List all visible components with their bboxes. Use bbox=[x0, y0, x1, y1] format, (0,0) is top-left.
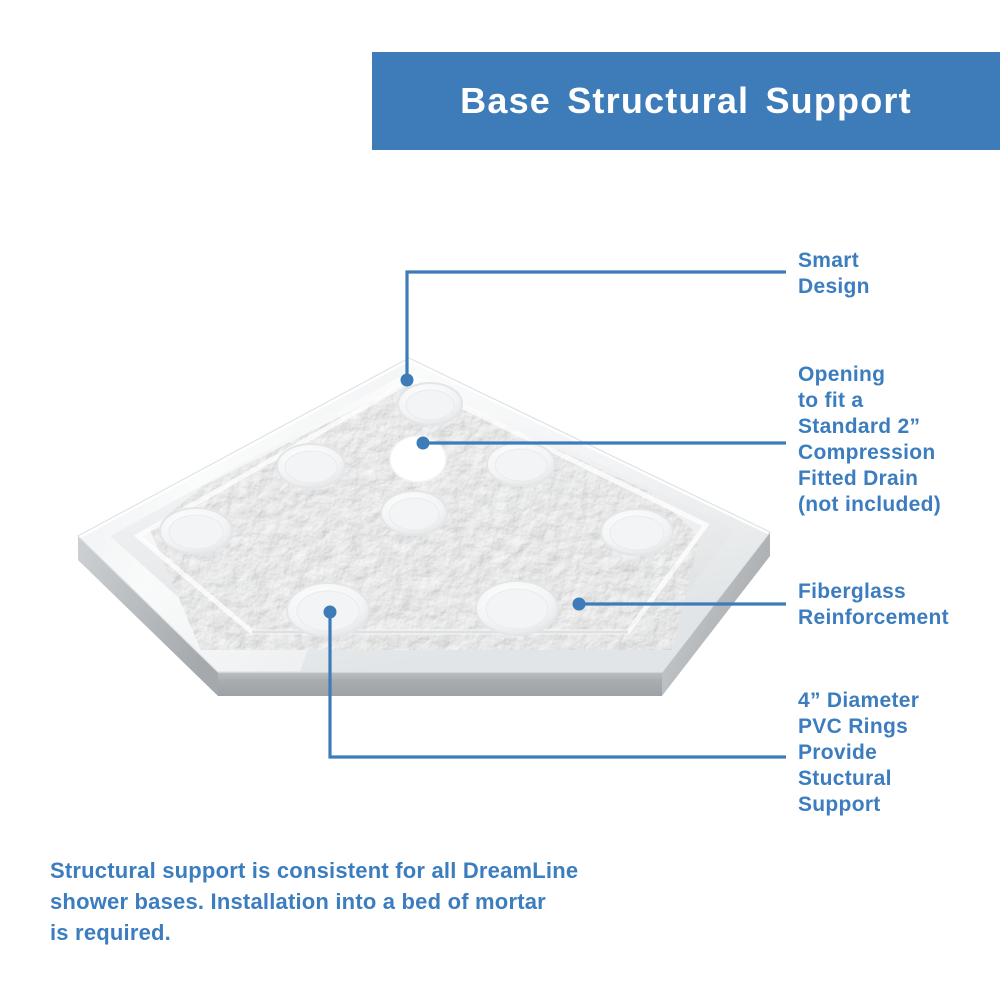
callout-line: Stuctural bbox=[798, 766, 998, 792]
callout-label-pvc-rings: 4” Diameter PVC Rings Provide Stuctural … bbox=[798, 688, 998, 818]
footer-line: shower bases. Installation into a bed of… bbox=[50, 886, 690, 917]
callout-line: Standard 2” bbox=[798, 414, 998, 440]
pvc-ring bbox=[398, 383, 462, 425]
leader-dot-pvc-rings bbox=[324, 606, 337, 619]
pvc-ring bbox=[487, 442, 555, 486]
callout-line: PVC Rings bbox=[798, 714, 998, 740]
leader-dot-smart-design bbox=[401, 374, 414, 387]
page-title: Base Structural Support bbox=[460, 80, 912, 122]
callout-line: Support bbox=[798, 792, 998, 818]
footer-line: Structural support is consistent for all… bbox=[50, 855, 690, 886]
pvc-ring bbox=[277, 444, 345, 488]
callout-line: Provide bbox=[798, 740, 998, 766]
pvc-ring bbox=[160, 508, 232, 554]
callout-line: Fitted Drain bbox=[798, 466, 998, 492]
leader-dot-fiberglass bbox=[573, 598, 586, 611]
footer-note: Structural support is consistent for all… bbox=[50, 855, 690, 948]
header-banner: Base Structural Support bbox=[372, 52, 1000, 150]
callout-line: 4” Diameter bbox=[798, 688, 998, 714]
callout-line: Reinforcement bbox=[798, 605, 998, 631]
footer-line: is required. bbox=[50, 917, 690, 948]
pvc-ring bbox=[601, 509, 673, 555]
callout-line: to fit a bbox=[798, 388, 998, 414]
shower-base-body bbox=[78, 358, 770, 696]
leader-dot-drain-opening bbox=[417, 437, 430, 450]
leader-line-smart-design bbox=[407, 272, 786, 380]
pvc-ring bbox=[476, 581, 558, 635]
pvc-ring bbox=[381, 491, 447, 535]
callout-line: Opening bbox=[798, 362, 998, 388]
callout-line: Compression bbox=[798, 440, 998, 466]
base-side-wall-front bbox=[218, 672, 662, 696]
callout-line: Fiberglass bbox=[798, 579, 998, 605]
callout-label-smart-design: Smart Design bbox=[798, 248, 998, 300]
callout-label-drain-opening: Opening to fit a Standard 2” Compression… bbox=[798, 362, 998, 518]
callout-line: Smart bbox=[798, 248, 998, 274]
callout-line: (not included) bbox=[798, 492, 998, 518]
callout-label-fiberglass: Fiberglass Reinforcement bbox=[798, 579, 998, 631]
callout-line: Design bbox=[798, 274, 998, 300]
